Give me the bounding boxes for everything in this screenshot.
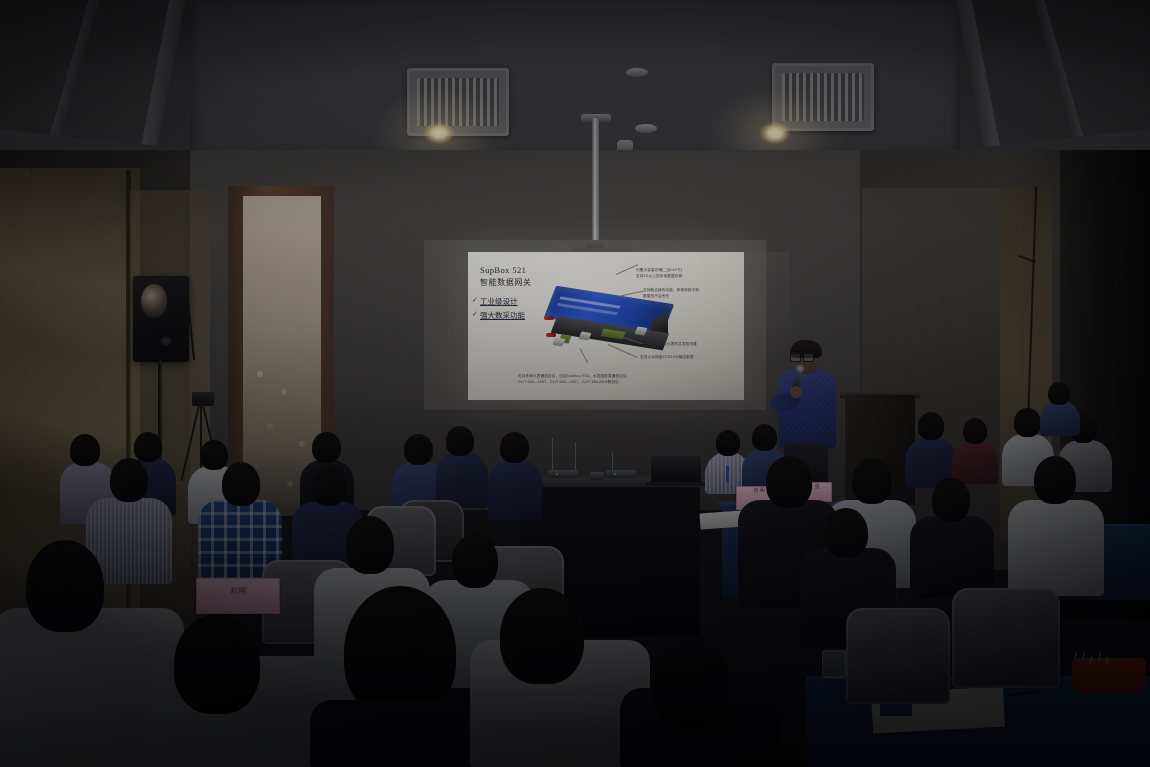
slide-annotation-bottom-right-1: 支持多达32台仪表的并发数采集 [644,342,740,348]
presenter-hand [790,386,802,398]
attendee-head [716,430,740,456]
antenna-icon [612,452,613,471]
pa-speaker [133,276,189,362]
attendee-head-foreground [174,614,260,714]
water-glass [822,650,846,678]
slide-subtitle: 智能数据网关 [480,277,532,288]
slide-annotation-top-right-1: 内置大容量存储(二民/4G卡) 支持2G以上的本地数据存储 [636,268,740,279]
projector-drop-pole [592,118,599,250]
attendee-torso [952,440,998,484]
attendee-head [1048,382,1070,405]
attendee-head [1014,408,1041,437]
attendee-head [312,432,341,463]
chair [952,588,1060,688]
attendee-head [446,426,474,456]
attendee-head [110,458,148,502]
status-led [556,473,558,475]
attendee-head-foreground [344,586,456,718]
name-card: 刘 明 [196,578,280,614]
attendee-head [452,534,498,588]
audio-mixer [606,470,636,478]
device-port [579,331,592,340]
status-led [614,473,616,475]
attendee-head [134,432,162,462]
lanyard [726,466,729,482]
attendee-head [766,456,812,508]
attendee-torso [910,516,994,598]
attendee-head [852,458,892,504]
attendee-head [963,418,987,444]
check-icon: ✓ [472,296,478,304]
attendee-head [404,434,433,465]
attendee-head [222,462,260,506]
attendee-head [312,466,346,506]
attendee-head [500,432,529,463]
speaker-tweeter-icon [161,336,171,346]
device-antenna-connector [544,316,554,320]
downlight-icon [424,122,454,144]
attendee-head [824,508,868,558]
attendee-head [1034,456,1076,504]
red-bowl [1072,658,1146,694]
eyeglasses-icon [790,353,816,360]
attendee-head-foreground [652,640,730,728]
attendee-head [70,434,100,466]
presentation-room-photo: SupBox 521 智能数据网关 ✓ 工业级设计 ✓ 强大数采功能 [0,0,1150,767]
attendee-head [752,424,777,451]
attendee-torso [488,460,542,520]
attendee-head [932,478,970,522]
projected-slide: SupBox 521 智能数据网关 ✓ 工业级设计 ✓ 强大数采功能 [468,252,744,400]
slide-bullet-1: 工业级设计 [480,296,518,307]
attendee-head-foreground [26,540,104,632]
callout-leader-line [616,264,638,275]
smoke-detector-icon [635,124,657,133]
slide-bullet-2: 强大数采功能 [480,310,525,321]
attendee-torso [1008,500,1104,596]
audio-device [590,472,604,480]
attendee-torso [1040,400,1080,436]
wireless-mic-receiver [548,470,578,478]
name-card-text: 刘 明 [197,579,279,596]
downlight-icon [760,122,790,144]
attendee-head [346,516,394,574]
device-port [553,337,566,346]
attendee-head [200,440,228,470]
slide-annotation-bottom: 支持多种仪表通信协议，包括Modbus RTU、水表国家表通信协议 DL/T 6… [518,374,688,385]
laptop[interactable] [650,455,702,483]
smoke-detector-icon [626,68,648,77]
slide-annotation-bottom-right-2: 支持以太网接口/3G/4G输出数据 [640,355,740,361]
antenna-icon [575,442,576,471]
chair [846,608,950,704]
speaker-cone-icon [141,284,167,318]
check-icon: ✓ [472,310,478,318]
device-antenna-connector [546,333,556,337]
antenna-icon [552,438,553,471]
slide-title: SupBox 521 [480,265,526,275]
slide-annotation-top-right-2: 支持断点续传功能，即使网络中断 数据也不会丢失 [643,288,743,299]
attendee-head-foreground [500,588,584,684]
attendee-head [918,412,944,440]
